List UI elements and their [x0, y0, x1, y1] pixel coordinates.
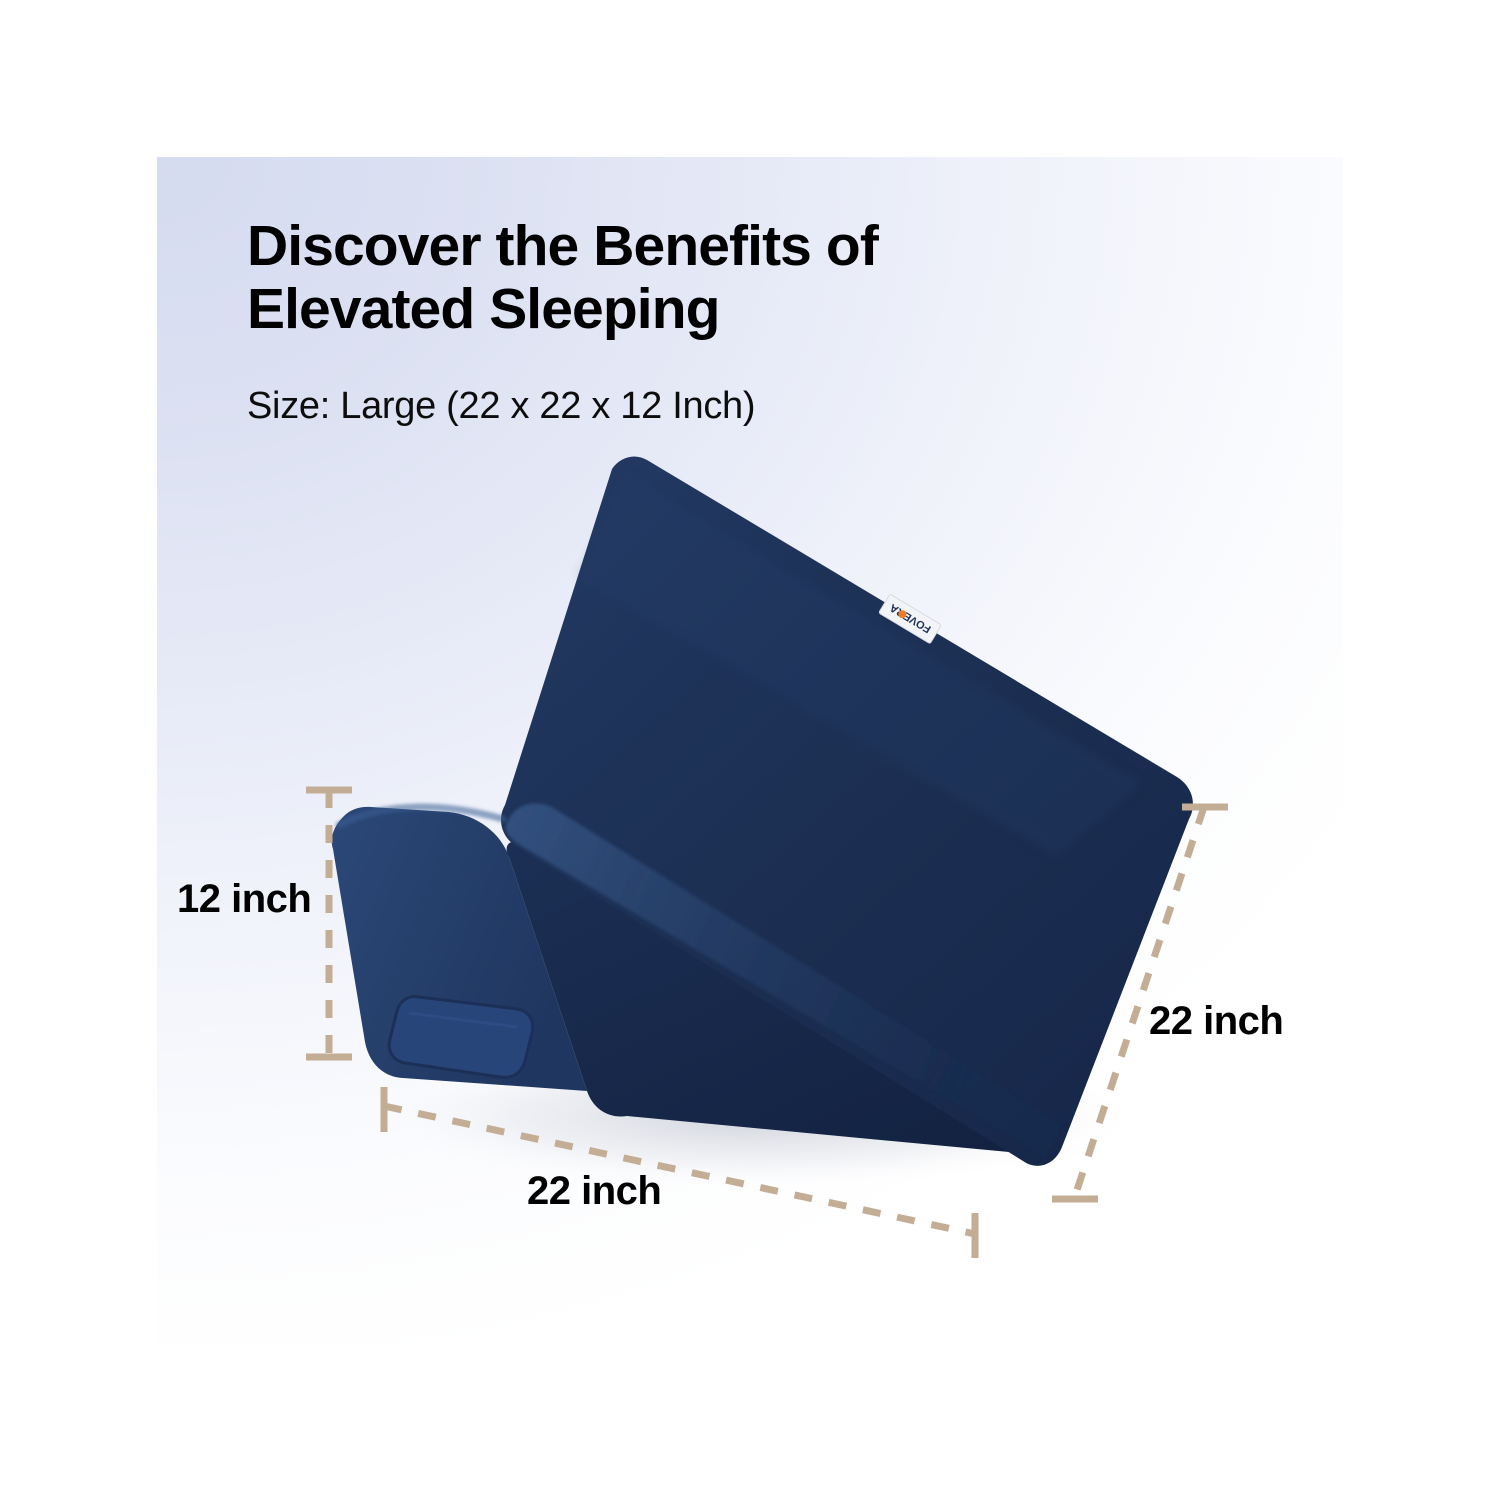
content-panel: Discover the Benefits of Elevated Sleepi…: [157, 157, 1343, 1343]
product-illustration: FOVERA: [157, 157, 1343, 1343]
product-infographic: Discover the Benefits of Elevated Sleepi…: [0, 0, 1500, 1500]
dimension-label-depth: 22 inch: [1149, 999, 1283, 1044]
dimension-label-width: 22 inch: [527, 1169, 661, 1214]
dimension-label-height: 12 inch: [177, 877, 311, 922]
carry-handle-strap: [389, 997, 533, 1078]
